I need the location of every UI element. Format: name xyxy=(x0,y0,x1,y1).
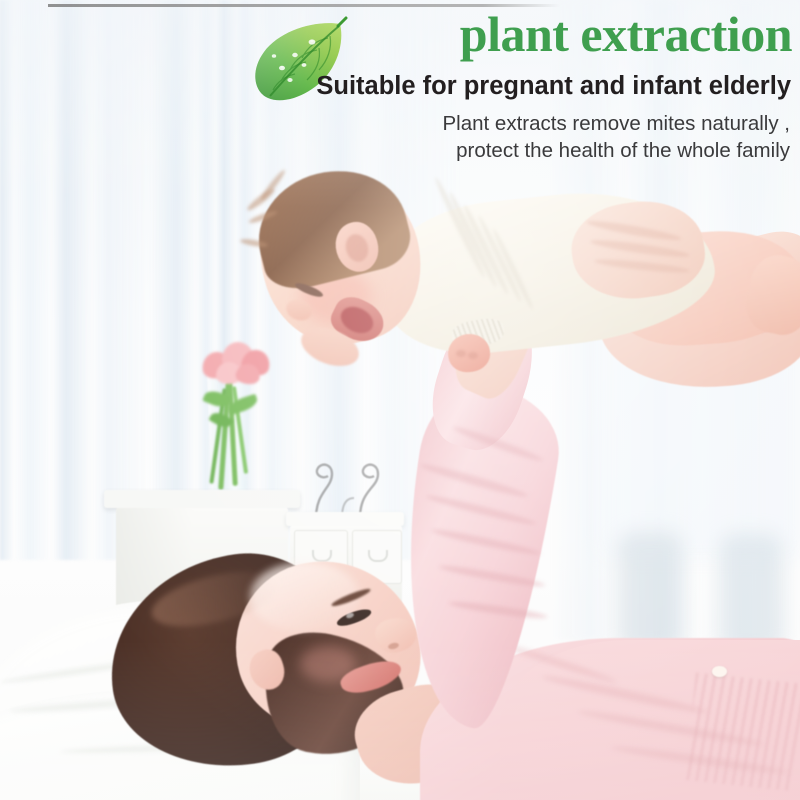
subtitle: Suitable for pregnant and infant elderly xyxy=(94,72,794,101)
body-copy: Plant extracts remove mites naturally , … xyxy=(94,110,794,165)
body-line-2: protect the health of the whole family xyxy=(94,137,790,164)
baby-knuckle xyxy=(468,352,478,359)
body-line-1: Plant extracts remove mites naturally , xyxy=(94,110,790,137)
baby-knuckle xyxy=(456,350,466,357)
text-overlay: plant extraction Suitable for pregnant a… xyxy=(94,8,794,165)
page-title: plant extraction xyxy=(94,8,794,61)
product-banner: plant extraction Suitable for pregnant a… xyxy=(0,0,800,800)
